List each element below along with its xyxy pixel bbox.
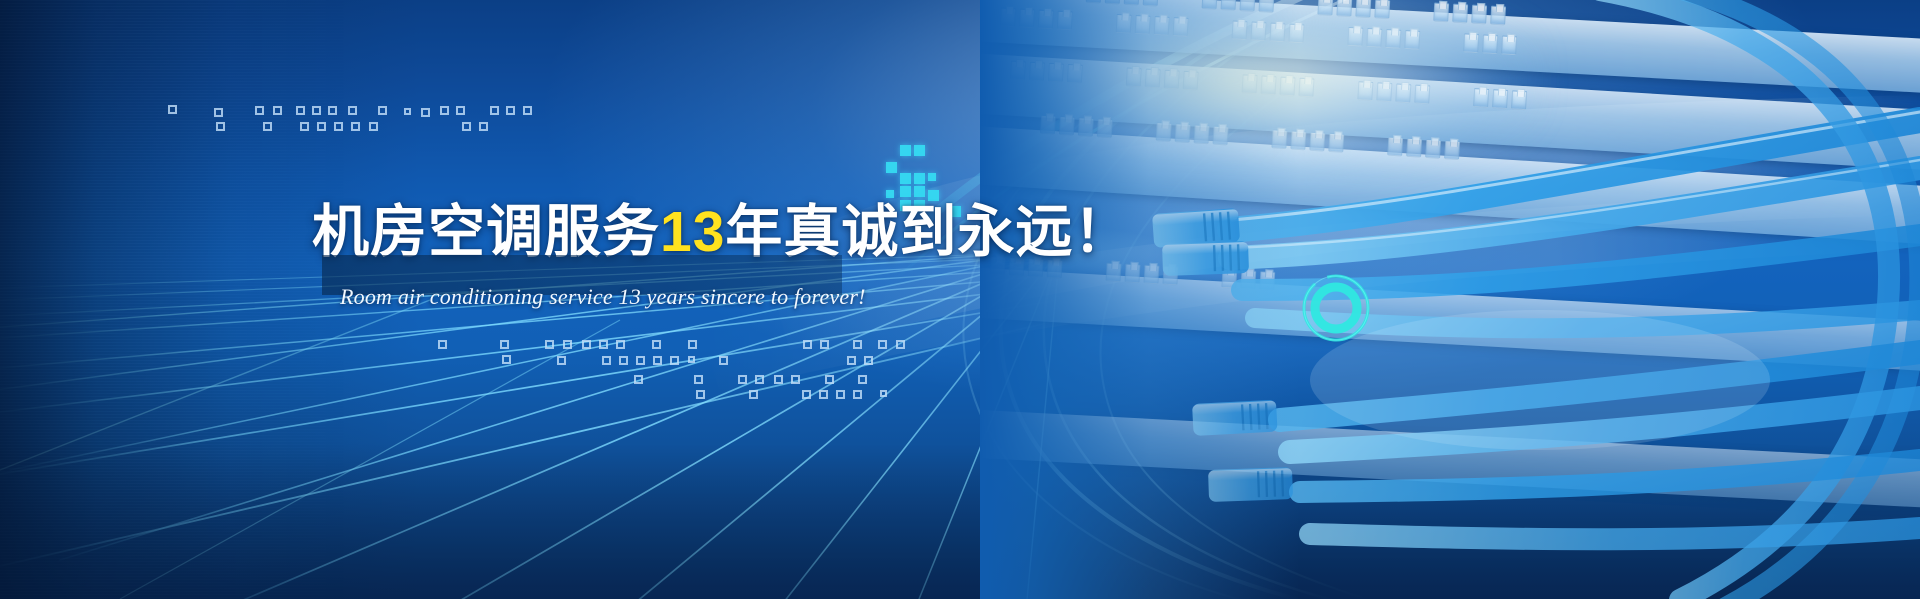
- server-rack-photo: [980, 0, 1920, 599]
- photo-left-blend: [980, 0, 1920, 599]
- cyan-ring-icon: [1300, 272, 1372, 344]
- banner-subtitle: Room air conditioning service 13 years s…: [340, 280, 866, 314]
- hero-banner: 机房空调服务13年真诚到永远！ Room air conditioning se…: [0, 0, 1920, 599]
- banner-text-block: 机房空调服务13年真诚到永远！ Room air conditioning se…: [0, 0, 1100, 599]
